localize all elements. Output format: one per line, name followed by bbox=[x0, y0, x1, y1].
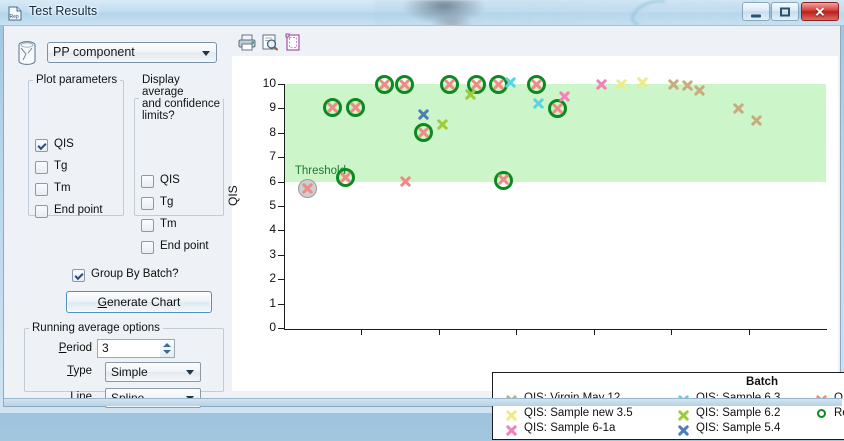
checkbox-label: QIS bbox=[54, 138, 74, 150]
data-point bbox=[531, 79, 542, 90]
y-axis bbox=[284, 84, 285, 330]
data-point bbox=[498, 174, 509, 185]
accel-g: G bbox=[98, 295, 107, 309]
period-label-rest: eriod bbox=[66, 342, 92, 354]
y-tick bbox=[278, 230, 284, 231]
legend-item-label: Reference set bbox=[834, 407, 844, 419]
component-dropdown[interactable]: PP component bbox=[47, 42, 217, 63]
y-tick-label: 5 bbox=[250, 199, 276, 211]
svg-text:Rep: Rep bbox=[10, 14, 19, 20]
data-point bbox=[379, 79, 390, 90]
checkbox-icon bbox=[35, 205, 48, 218]
data-point bbox=[399, 79, 410, 90]
data-point bbox=[350, 102, 361, 113]
x-tick bbox=[361, 330, 362, 335]
running-average-legend: Running average options bbox=[29, 322, 163, 334]
window-client-area: PP component Plot parameters QIS Tg Tm bbox=[3, 26, 841, 407]
x-tick bbox=[671, 330, 672, 335]
chart-panel: QIS 012345678910 Threshold Batch QIS: Vi… bbox=[232, 56, 838, 391]
checkbox-label: End point bbox=[160, 240, 209, 252]
checkbox-icon bbox=[35, 183, 48, 196]
y-tick-label: 8 bbox=[250, 126, 276, 138]
y-tick-label: 3 bbox=[250, 248, 276, 260]
test-results-window: Lacerta Rep Test Results ✕ bbox=[0, 0, 844, 413]
period-stepper[interactable] bbox=[160, 339, 175, 358]
y-tick bbox=[278, 304, 284, 305]
data-point bbox=[465, 89, 476, 100]
database-icon bbox=[16, 40, 38, 66]
legend-item-label: QIS: Sample 5.4 bbox=[696, 422, 780, 434]
legend-x-icon bbox=[678, 423, 689, 434]
window-titlebar: Lacerta Rep Test Results ✕ bbox=[0, 0, 844, 26]
checkbox-label: Tg bbox=[54, 160, 67, 172]
data-point bbox=[340, 172, 351, 183]
window-title: Test Results bbox=[29, 4, 97, 18]
data-point bbox=[668, 79, 679, 90]
generate-chart-rest: enerate Chart bbox=[107, 295, 180, 309]
checkbox-label: QIS bbox=[160, 174, 180, 186]
data-point bbox=[751, 115, 762, 126]
y-tick bbox=[278, 133, 284, 134]
close-button[interactable]: ✕ bbox=[801, 2, 839, 21]
legend-item-label: QIS: Sample 6-1a bbox=[524, 422, 615, 434]
legend-item-label: QIS: Sample 6.2 bbox=[696, 407, 780, 419]
checkbox-label: End point bbox=[54, 204, 103, 216]
checkbox-icon bbox=[35, 139, 48, 152]
type-label: Type bbox=[30, 365, 92, 377]
data-point bbox=[559, 91, 570, 102]
data-point bbox=[302, 183, 313, 194]
plot-parameters-legend: Plot parameters bbox=[33, 74, 120, 86]
display-average-legend: Display average and confidence limits? bbox=[139, 74, 223, 122]
data-point bbox=[596, 79, 607, 90]
plot-parameters-group: Plot parameters QIS Tg Tm End point bbox=[28, 74, 124, 216]
generate-chart-button[interactable]: Generate Chart bbox=[66, 291, 212, 313]
maximize-icon bbox=[780, 7, 790, 16]
checkbox-label: Tg bbox=[160, 196, 173, 208]
chart-toolbar bbox=[232, 29, 838, 55]
type-dropdown-value: Simple bbox=[111, 365, 148, 379]
page-setup-icon[interactable] bbox=[283, 33, 303, 52]
legend-x-icon bbox=[506, 423, 517, 434]
x-tick bbox=[749, 330, 750, 335]
component-dropdown-value: PP component bbox=[53, 45, 135, 59]
data-point bbox=[327, 102, 338, 113]
data-point bbox=[400, 176, 411, 187]
stepper-down-icon[interactable] bbox=[163, 350, 171, 354]
plot-area bbox=[284, 84, 826, 328]
data-point bbox=[533, 98, 544, 109]
checkbox-icon bbox=[35, 161, 48, 174]
y-tick-label: 4 bbox=[250, 223, 276, 235]
report-icon: Rep bbox=[7, 5, 24, 22]
data-point bbox=[418, 127, 429, 138]
data-point bbox=[682, 80, 693, 91]
y-tick-label: 1 bbox=[250, 297, 276, 309]
data-point bbox=[444, 79, 455, 90]
type-label-rest: ype bbox=[73, 365, 92, 377]
checkbox-label: Tm bbox=[160, 218, 177, 230]
maximize-button[interactable] bbox=[771, 2, 799, 21]
checkbox-icon bbox=[72, 269, 85, 282]
data-point bbox=[552, 103, 563, 114]
legend-title: Batch bbox=[493, 376, 844, 388]
options-panel: PP component Plot parameters QIS Tg Tm bbox=[10, 30, 228, 390]
data-point bbox=[637, 77, 648, 88]
status-strip bbox=[4, 398, 842, 406]
data-point bbox=[437, 119, 448, 130]
y-tick-label: 6 bbox=[250, 175, 276, 187]
legend-item-label: QIS: Sample new 3.5 bbox=[524, 407, 633, 419]
close-icon: ✕ bbox=[815, 5, 826, 18]
x-tick bbox=[516, 330, 517, 335]
y-tick bbox=[278, 84, 284, 85]
data-point bbox=[493, 79, 504, 90]
chart-legend: Batch QIS: Virgin May 12QIS: Sample new … bbox=[492, 372, 844, 440]
minimize-button[interactable] bbox=[742, 2, 770, 21]
x-axis bbox=[284, 329, 827, 330]
y-tick bbox=[278, 279, 284, 280]
legend-x-icon bbox=[678, 408, 689, 419]
stepper-up-icon[interactable] bbox=[163, 343, 171, 347]
period-label: Period bbox=[30, 342, 92, 354]
legend-line-1: Display average bbox=[142, 74, 184, 98]
y-tick bbox=[278, 108, 284, 109]
y-axis-label: QIS bbox=[226, 185, 240, 206]
y-tick-label: 10 bbox=[250, 77, 276, 89]
data-point bbox=[418, 109, 429, 120]
data-point bbox=[471, 79, 482, 90]
legend-x-icon bbox=[506, 408, 517, 419]
y-tick-label: 7 bbox=[250, 150, 276, 162]
checkbox-label: Group By Batch? bbox=[91, 268, 179, 280]
y-tick bbox=[278, 206, 284, 207]
chevron-down-icon bbox=[186, 370, 194, 375]
x-tick bbox=[439, 330, 440, 335]
data-point bbox=[733, 103, 744, 114]
checkbox-icon bbox=[141, 197, 154, 210]
legend-circle-open-icon bbox=[817, 409, 826, 418]
x-tick bbox=[594, 330, 595, 335]
generate-chart-label: Generate Chart bbox=[98, 295, 181, 309]
print-preview-icon[interactable] bbox=[260, 33, 280, 52]
y-tick-label: 9 bbox=[250, 101, 276, 113]
chevron-down-icon bbox=[202, 51, 210, 56]
y-tick bbox=[278, 182, 284, 183]
y-tick bbox=[278, 255, 284, 256]
data-point bbox=[505, 77, 516, 88]
data-point bbox=[694, 85, 705, 96]
legend-line-2: and confidence bbox=[142, 98, 220, 110]
checkbox-icon bbox=[141, 175, 154, 188]
display-average-group: Display average and confidence limits? Q… bbox=[134, 74, 224, 216]
data-point bbox=[616, 79, 627, 90]
checkbox-icon bbox=[141, 219, 154, 232]
y-tick bbox=[278, 328, 284, 329]
print-icon[interactable] bbox=[237, 33, 257, 52]
y-tick-label: 0 bbox=[250, 321, 276, 333]
minimize-icon bbox=[751, 14, 761, 17]
y-tick-label: 2 bbox=[250, 272, 276, 284]
checkbox-label: Tm bbox=[54, 182, 71, 194]
y-tick bbox=[278, 157, 284, 158]
type-dropdown[interactable]: Simple bbox=[105, 362, 201, 382]
checkbox-icon bbox=[141, 241, 154, 254]
legend-line-3: limits? bbox=[142, 110, 175, 122]
